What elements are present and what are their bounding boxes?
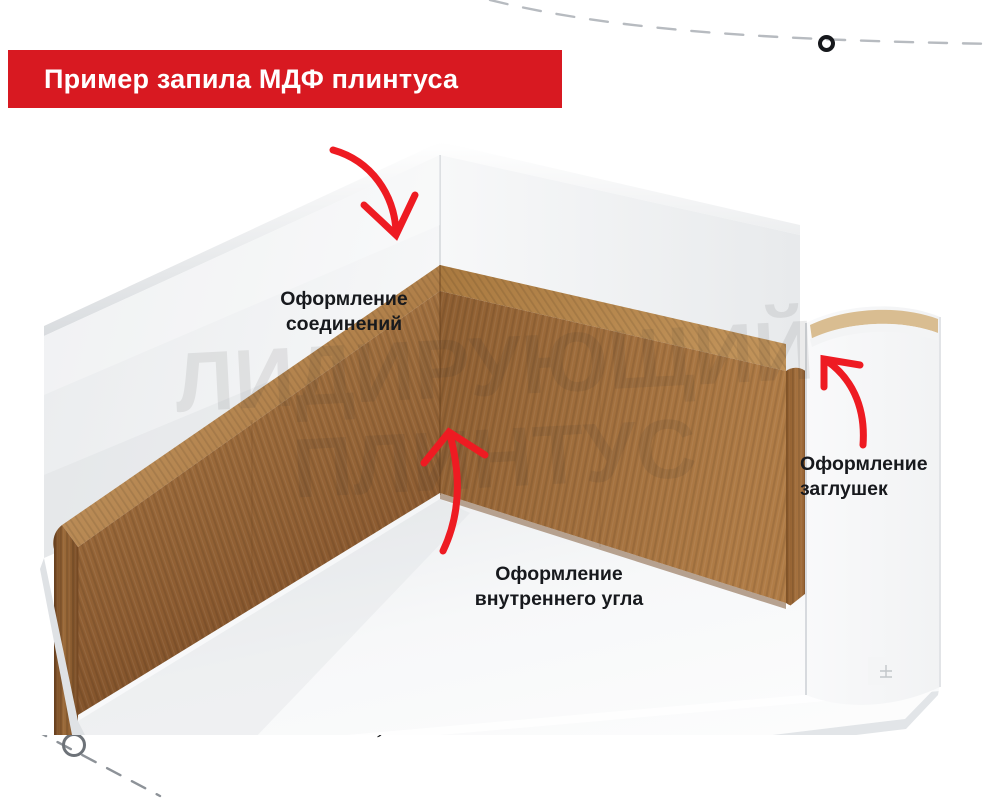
page-title: Пример запила МДФ плинтуса — [8, 64, 458, 95]
product-photo: ЛИДИРУЮЩИЙ ПЛИНТУС — [0, 95, 1000, 735]
callout-label-end-caps: Оформление заглушек — [800, 452, 980, 502]
page-root: ’ ’ ’ — [0, 0, 1000, 800]
callout-label-joints: Оформление соединений — [249, 287, 439, 337]
callout-label-inner-corner: Оформление внутреннего угла — [434, 562, 684, 612]
open-ring-bottom-left-decoration — [62, 733, 86, 757]
ring-top-right-decoration — [818, 35, 835, 52]
title-banner: Пример запила МДФ плинтуса — [8, 50, 562, 108]
